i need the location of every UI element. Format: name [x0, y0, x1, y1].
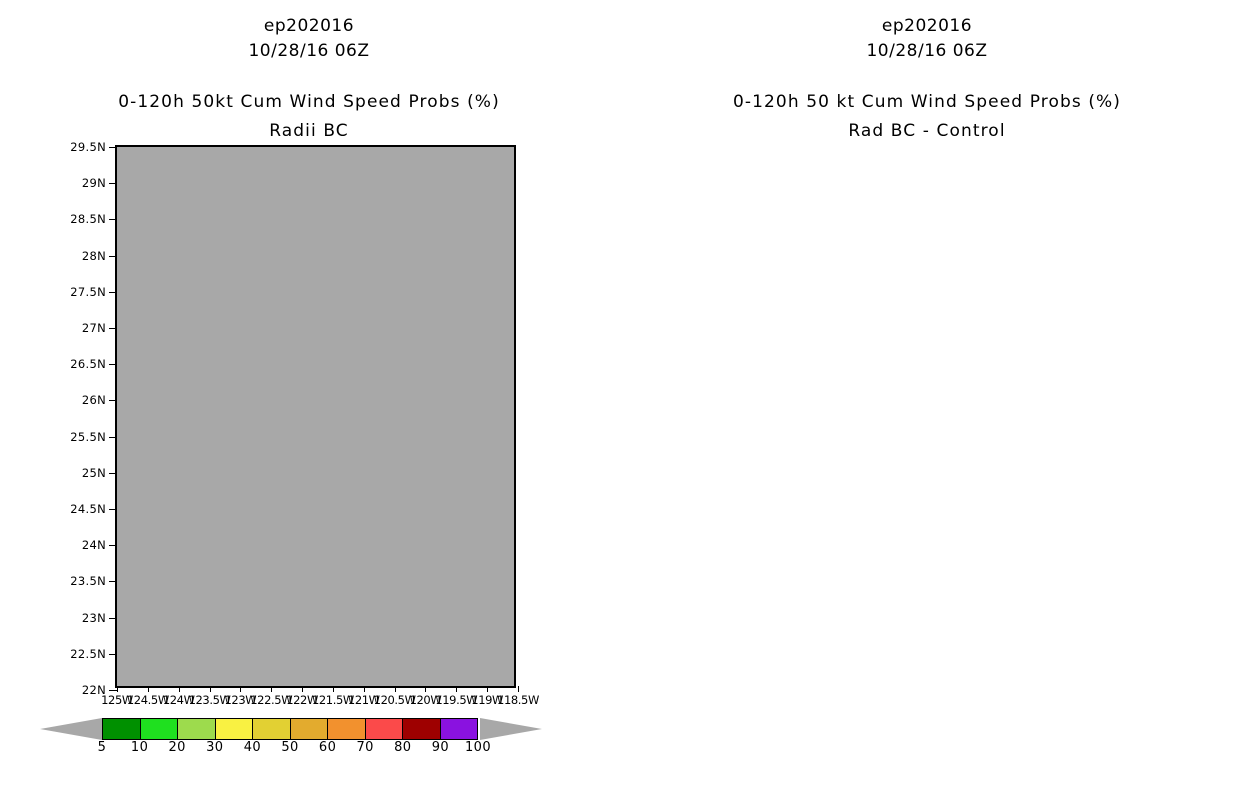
x-axis-tick [518, 686, 519, 692]
x-axis-tick [271, 686, 272, 692]
x-axis-tick [179, 686, 180, 692]
right-chart-title: 0-120h 50 kt Cum Wind Speed Probs (%) [618, 92, 1236, 112]
x-axis-tick [117, 686, 118, 692]
y-axis-tick [109, 256, 117, 257]
right-panel: ep202016 10/28/16 06Z 0-120h 50 kt Cum W… [618, 0, 1236, 800]
y-axis-tick [109, 690, 117, 691]
y-axis-tick-label: 28.5N [70, 212, 106, 226]
y-axis-tick-label: 27N [82, 321, 106, 335]
y-axis-tick [109, 437, 117, 438]
x-axis-tick [364, 686, 365, 692]
y-axis-tick [109, 618, 117, 619]
colorbar-tick-label: 100 [465, 740, 491, 755]
y-axis-tick-label: 22.5N [70, 647, 106, 661]
y-axis-tick-label: 25N [82, 466, 106, 480]
x-axis-tick [333, 686, 334, 692]
left-gridlines [117, 147, 514, 686]
colorbar-swatch [141, 719, 179, 739]
x-axis-tick [425, 686, 426, 692]
y-axis-tick-label: 24N [82, 538, 106, 552]
colorbar-swatch [441, 719, 478, 739]
y-axis-tick-label: 29.5N [70, 140, 106, 154]
x-axis-tick [240, 686, 241, 692]
colorbar-over-cap [480, 718, 540, 740]
y-axis-tick [109, 400, 117, 401]
colorbar-swatch [253, 719, 291, 739]
y-axis-tick [109, 509, 117, 510]
left-chart-title: 0-120h 50kt Cum Wind Speed Probs (%) [0, 92, 618, 112]
colorbar-tick-label: 5 [98, 740, 107, 755]
y-axis-tick-label: 25.5N [70, 430, 106, 444]
x-axis-tick-label: 118.5W [497, 693, 539, 707]
y-axis-tick-label: 27.5N [70, 285, 106, 299]
colorbar-swatch [403, 719, 441, 739]
y-axis-tick-label: 24.5N [70, 502, 106, 516]
colorbar-swatch [328, 719, 366, 739]
colorbar-tick-label: 30 [206, 740, 223, 755]
left-storm-id: ep202016 [0, 16, 618, 36]
y-axis-tick [109, 364, 117, 365]
left-panel: ep202016 10/28/16 06Z 0-120h 50kt Cum Wi… [0, 0, 618, 800]
y-axis-tick-label: 23N [82, 611, 106, 625]
colorbar-swatch [291, 719, 329, 739]
x-axis-tick [395, 686, 396, 692]
y-axis-tick-label: 29N [82, 176, 106, 190]
left-chart-subtitle: Radii BC [0, 121, 618, 141]
y-axis-tick [109, 473, 117, 474]
x-axis-tick [302, 686, 303, 692]
x-axis-tick [148, 686, 149, 692]
colorbar-swatches [102, 718, 478, 740]
y-axis-tick-label: 28N [82, 249, 106, 263]
y-axis-tick [109, 147, 117, 148]
left-colorbar: 5102030405060708090100 [40, 712, 540, 758]
colorbar-swatch [103, 719, 141, 739]
right-storm-id: ep202016 [618, 16, 1236, 36]
colorbar-under-cap [40, 718, 100, 740]
colorbar-tick-label: 10 [131, 740, 148, 755]
colorbar-tick-label: 50 [281, 740, 298, 755]
x-axis-tick [456, 686, 457, 692]
y-axis-tick [109, 183, 117, 184]
y-axis-tick-label: 23.5N [70, 574, 106, 588]
y-axis-tick-label: 26.5N [70, 357, 106, 371]
colorbar-swatch [366, 719, 404, 739]
colorbar-swatch [216, 719, 254, 739]
colorbar-tick-label: 20 [169, 740, 186, 755]
colorbar-tick-label: 60 [319, 740, 336, 755]
colorbar-swatch [178, 719, 216, 739]
left-plot-area: 22N22.5N23N23.5N24N24.5N25N25.5N26N26.5N… [115, 145, 516, 688]
x-axis-tick [487, 686, 488, 692]
left-datetime: 10/28/16 06Z [0, 41, 618, 61]
y-axis-tick [109, 219, 117, 220]
x-axis-tick [210, 686, 211, 692]
right-chart-subtitle: Rad BC - Control [618, 121, 1236, 141]
y-axis-tick [109, 545, 117, 546]
colorbar-tick-label: 90 [432, 740, 449, 755]
colorbar-tick-label: 40 [244, 740, 261, 755]
y-axis-tick [109, 292, 117, 293]
y-axis-tick [109, 654, 117, 655]
right-datetime: 10/28/16 06Z [618, 41, 1236, 61]
colorbar-tick-label: 80 [394, 740, 411, 755]
y-axis-tick-label: 26N [82, 393, 106, 407]
y-axis-tick [109, 328, 117, 329]
colorbar-tick-label: 70 [357, 740, 374, 755]
y-axis-tick [109, 581, 117, 582]
